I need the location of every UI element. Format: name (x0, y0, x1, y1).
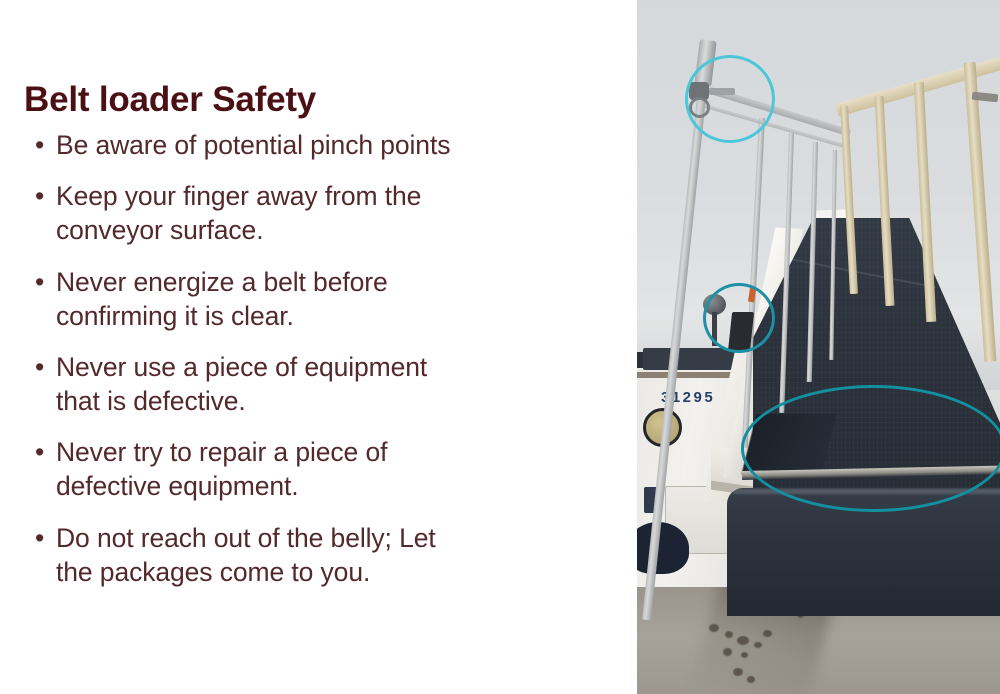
list-item: • Never use a piece of equipment that is… (30, 350, 530, 418)
slide-canvas: Belt loader Safety • Be aware of potenti… (0, 0, 1000, 694)
ground-stain (733, 668, 743, 676)
list-item: • Never energize a belt before confirmin… (30, 265, 530, 333)
bullet-icon: • (35, 435, 44, 469)
slide-text-column: Belt loader Safety • Be aware of potenti… (0, 0, 636, 694)
ground-stain (754, 642, 762, 648)
bullet-text: Never energize a belt before confirming … (56, 265, 530, 333)
bullet-icon: • (35, 350, 44, 384)
belt-loader-photo: 31295 (637, 0, 1000, 694)
annotation-circle-pinch-point-control-knob (703, 283, 775, 353)
list-item: • Do not reach out of the belly; Let the… (30, 521, 530, 589)
bullet-icon: • (35, 521, 44, 555)
safety-bullet-list: • Be aware of potential pinch points • K… (30, 128, 530, 606)
bullet-text: Keep your finger away from the conveyor … (56, 179, 530, 247)
list-item: • Keep your finger away from the conveyo… (30, 179, 530, 247)
bullet-icon: • (35, 128, 44, 162)
ground-stain (763, 630, 772, 637)
ground-stain (741, 652, 748, 658)
list-item: • Be aware of potential pinch points (30, 128, 530, 162)
vehicle-window (643, 348, 735, 370)
bullet-text: Never use a piece of equipment that is d… (56, 350, 530, 418)
annotation-ellipse-pinch-point-roller (741, 385, 1000, 512)
list-item: • Never try to repair a piece of defecti… (30, 435, 530, 503)
bullet-text: Never try to repair a piece of defective… (56, 435, 530, 503)
ground-stain (747, 676, 755, 683)
ground-stain (737, 636, 749, 645)
ground-stain (725, 631, 733, 638)
ground-stain (709, 624, 719, 632)
page-title: Belt loader Safety (24, 81, 316, 120)
bullet-icon: • (35, 265, 44, 299)
bullet-text: Do not reach out of the belly; Let the p… (56, 521, 530, 589)
ground-stain (723, 648, 732, 656)
vehicle-wheel (637, 522, 689, 574)
bullet-text: Be aware of potential pinch points (56, 128, 530, 162)
bullet-icon: • (35, 179, 44, 213)
annotation-circle-pinch-point-stanchion (685, 55, 775, 143)
